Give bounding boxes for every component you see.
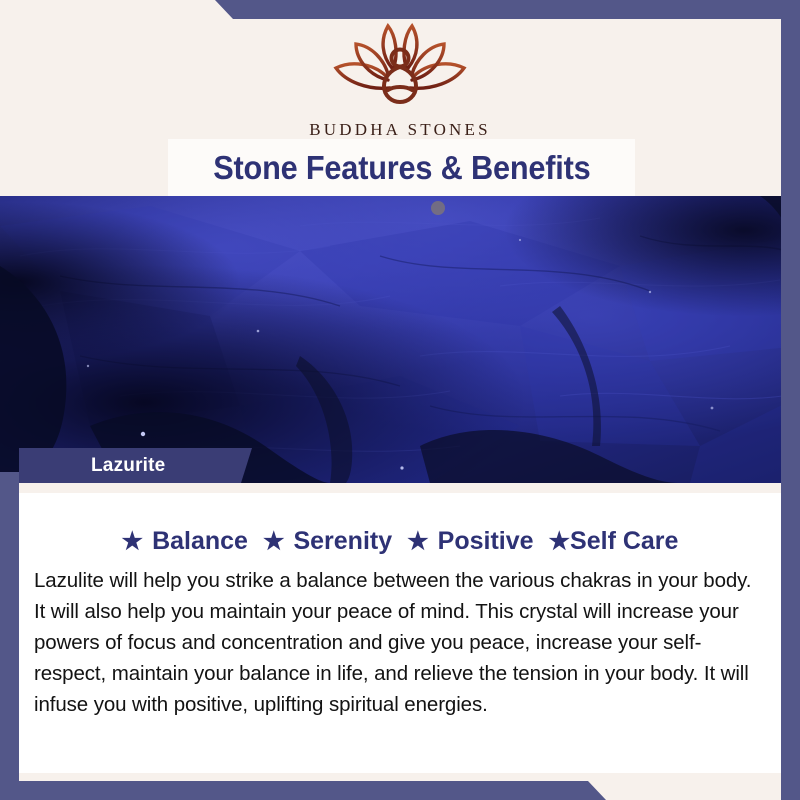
stone-info-poster: BUDDHA STONES [0,0,800,800]
benefit-keyword: ★Positive [407,527,533,556]
brand-logo: BUDDHA STONES [0,16,800,140]
star-icon: ★ [263,528,285,555]
lotus-meditation-icon [312,16,488,116]
card-top-strip [19,483,781,493]
page-title: Stone Features & Benefits [213,149,590,187]
frame-left-bar [0,472,19,800]
benefit-keywords-row: ★Balance★Serenity★Positive★Self Care [19,527,781,556]
benefit-keyword-label: Balance [152,527,248,555]
content-card: ★Balance★Serenity★Positive★Self Care Laz… [19,483,781,773]
frame-right-bar [781,0,800,800]
star-icon: ★ [549,528,571,555]
frame-bottom-bar [0,781,800,800]
benefit-keyword-label: Serenity [293,527,392,555]
star-icon: ★ [122,528,144,555]
benefit-keyword-label: Self Care [570,527,678,555]
brand-name: BUDDHA STONES [0,120,800,140]
lazurite-rock-photo [0,196,800,483]
benefit-keyword: ★Serenity [263,527,392,556]
benefit-keyword: ★Balance [122,527,248,556]
benefit-keyword: ★Self Care [549,527,679,556]
star-icon: ★ [407,528,429,555]
stone-name-label: Lazurite [19,455,165,477]
stone-name-banner: Lazurite [19,448,252,483]
benefit-keyword-label: Positive [438,527,534,555]
title-banner: Stone Features & Benefits [168,139,635,196]
stone-description: Lazulite will help you strike a balance … [34,565,766,720]
